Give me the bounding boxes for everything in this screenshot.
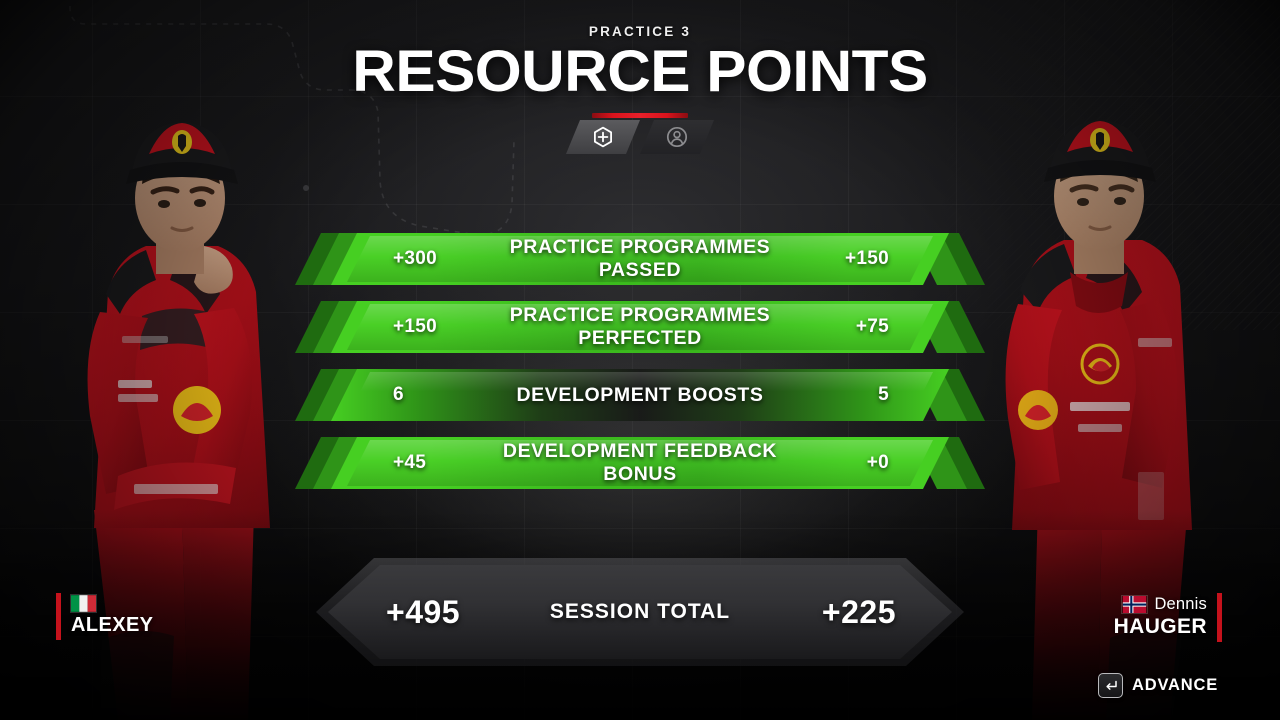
stat-row-body: +300PRACTICE PROGRAMMES PASSED+150	[331, 233, 949, 285]
stat-row-body: 6DEVELOPMENT BOOSTS5	[331, 369, 949, 421]
session-total-left-value: +495	[328, 594, 528, 631]
session-subtitle: PRACTICE 3	[0, 24, 1280, 39]
stat-row-left-value: +150	[331, 316, 481, 338]
stat-row-left-value: 6	[331, 384, 481, 406]
driver-helmet-icon	[665, 125, 689, 149]
stat-row-label: PRACTICE PROGRAMMES PERFECTED	[481, 304, 799, 350]
stat-row-label: DEVELOPMENT BOOSTS	[481, 384, 799, 407]
driver-first-name-right: Dennis	[1154, 595, 1207, 614]
driver-last-name-right: HAUGER	[1114, 615, 1207, 639]
stat-row-left-value: +45	[331, 452, 481, 474]
session-total-right-value: +225	[752, 594, 952, 631]
game-screen: PRACTICE 3 RESOURCE POINTS +300PRA	[0, 0, 1280, 720]
enter-key-icon	[1098, 673, 1123, 698]
tab-driver[interactable]	[640, 120, 714, 154]
driver-nameplate-right: Dennis HAUGER	[1104, 593, 1222, 642]
driver-last-name-left: Alexey	[71, 613, 153, 637]
advance-button[interactable]: ADVANCE	[1098, 673, 1218, 698]
stat-rows: +300PRACTICE PROGRAMMES PASSED+150+150PR…	[0, 233, 1280, 505]
page-title: RESOURCE POINTS	[0, 42, 1280, 102]
nameplate-accent-bar	[1217, 593, 1222, 642]
driver-nameplate-left: Alexey	[56, 593, 163, 640]
flag-norway-icon	[1122, 596, 1147, 613]
tab-resource-points[interactable]	[566, 120, 640, 154]
stat-row-right-value: +0	[799, 452, 949, 474]
session-total-bar: +495 SESSION TOTAL +225	[316, 558, 964, 666]
stat-row-left-value: +300	[331, 248, 481, 270]
header: PRACTICE 3 RESOURCE POINTS	[0, 24, 1280, 154]
title-accent-rule	[592, 113, 688, 118]
stat-row-right-value: +75	[799, 316, 949, 338]
stat-row-right-value: 5	[799, 384, 949, 406]
stat-row: 6DEVELOPMENT BOOSTS5	[295, 369, 985, 421]
tab-bar	[0, 120, 1280, 154]
stat-row-body: +45DEVELOPMENT FEEDBACK BONUS+0	[331, 437, 949, 489]
flag-italy-icon	[71, 595, 96, 612]
stat-row-label: PRACTICE PROGRAMMES PASSED	[481, 236, 799, 282]
hexagon-plus-icon	[591, 125, 615, 149]
stat-row: +300PRACTICE PROGRAMMES PASSED+150	[295, 233, 985, 285]
session-total-label: SESSION TOTAL	[528, 600, 752, 624]
session-total-section: +495 SESSION TOTAL +225	[0, 558, 1280, 666]
stat-row: +150PRACTICE PROGRAMMES PERFECTED+75	[295, 301, 985, 353]
stat-row-body: +150PRACTICE PROGRAMMES PERFECTED+75	[331, 301, 949, 353]
stat-row-right-value: +150	[799, 248, 949, 270]
session-total-inner: +495 SESSION TOTAL +225	[328, 565, 952, 659]
stat-row: +45DEVELOPMENT FEEDBACK BONUS+0	[295, 437, 985, 489]
enter-arrow-glyph	[1104, 679, 1118, 693]
advance-label: ADVANCE	[1132, 676, 1218, 695]
stat-row-label: DEVELOPMENT FEEDBACK BONUS	[481, 440, 799, 486]
